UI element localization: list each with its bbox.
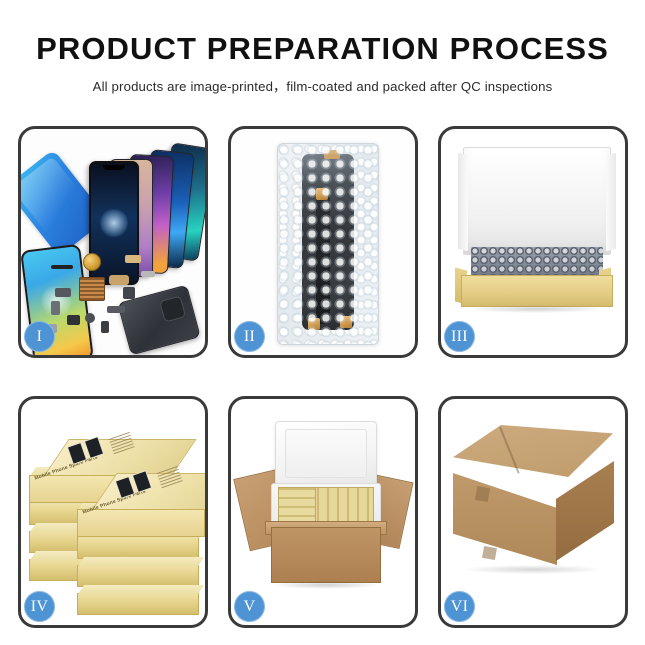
camera-lens-icon — [159, 296, 186, 323]
spare-part-k — [123, 287, 135, 299]
box-stack: Mobile Phone Spare Parts Mobile Phone Sp… — [25, 413, 205, 613]
carton-left-face — [453, 473, 557, 565]
spare-part-b — [55, 288, 71, 297]
spare-part-h — [125, 255, 141, 263]
stacked-box — [77, 593, 199, 615]
phone-lineup — [87, 141, 205, 271]
process-step-panel-2[interactable]: II — [228, 126, 418, 358]
step-3-photo — [441, 129, 625, 355]
small-round-part — [83, 253, 101, 271]
step-2-photo — [231, 129, 415, 355]
process-step-panel-4[interactable]: Mobile Phone Spare Parts Mobile Phone Sp… — [18, 396, 208, 628]
connector-top — [316, 188, 328, 200]
carton-top-face — [453, 425, 613, 477]
process-step-panel-1[interactable]: I — [18, 126, 208, 358]
carton-shadow — [463, 565, 603, 574]
connector-bottom-right — [340, 316, 352, 328]
carton-tape-lower — [482, 546, 497, 560]
stacked-box — [77, 565, 199, 587]
step-6-photo — [441, 399, 625, 625]
step-badge-4: IV — [24, 591, 55, 622]
spare-part-a — [51, 265, 73, 269]
step-badge-3: III — [444, 321, 475, 352]
bubble-wrap-bag — [277, 143, 379, 345]
spare-part-l — [141, 271, 155, 277]
inner-box-front — [461, 275, 613, 307]
bag-tape — [324, 150, 340, 159]
process-step-panel-5[interactable]: V — [228, 396, 418, 628]
step-badge-6: VI — [444, 591, 475, 622]
inner-boxes-side — [278, 487, 316, 525]
process-steps-grid: I II III — [18, 126, 628, 584]
box-shadow — [465, 305, 607, 313]
spare-part-g — [109, 275, 129, 285]
spare-part-i — [101, 321, 109, 333]
step-5-photo — [231, 399, 415, 625]
connector-bottom-left — [308, 318, 320, 330]
page-subtitle: All products are image-printed，film-coat… — [0, 76, 645, 95]
stacked-box — [77, 537, 199, 559]
carton-shadow — [271, 581, 381, 589]
step-badge-1: I — [24, 321, 55, 352]
inner-box-lid — [463, 147, 611, 255]
page-title: PRODUCT PREPARATION PROCESS — [0, 33, 645, 64]
spare-part-c — [51, 301, 60, 315]
spare-part-e — [85, 313, 95, 323]
spare-part-f — [107, 306, 125, 313]
carton-tape-upper — [475, 486, 490, 502]
flex-cable — [316, 196, 330, 324]
page-header: PRODUCT PREPARATION PROCESS All products… — [0, 0, 645, 95]
top-box-front — [77, 509, 205, 537]
process-step-panel-6[interactable]: VI — [438, 396, 628, 628]
step-4-photo: Mobile Phone Spare Parts Mobile Phone Sp… — [21, 399, 205, 625]
connector-grid-part — [79, 277, 105, 301]
step-badge-2: II — [234, 321, 265, 352]
spare-part-d — [67, 315, 80, 325]
step-badge-5: V — [234, 591, 265, 622]
carton-front — [271, 527, 381, 583]
process-step-panel-3[interactable]: III — [438, 126, 628, 358]
step-1-photo — [21, 129, 205, 355]
foam-box-lid — [275, 421, 377, 489]
